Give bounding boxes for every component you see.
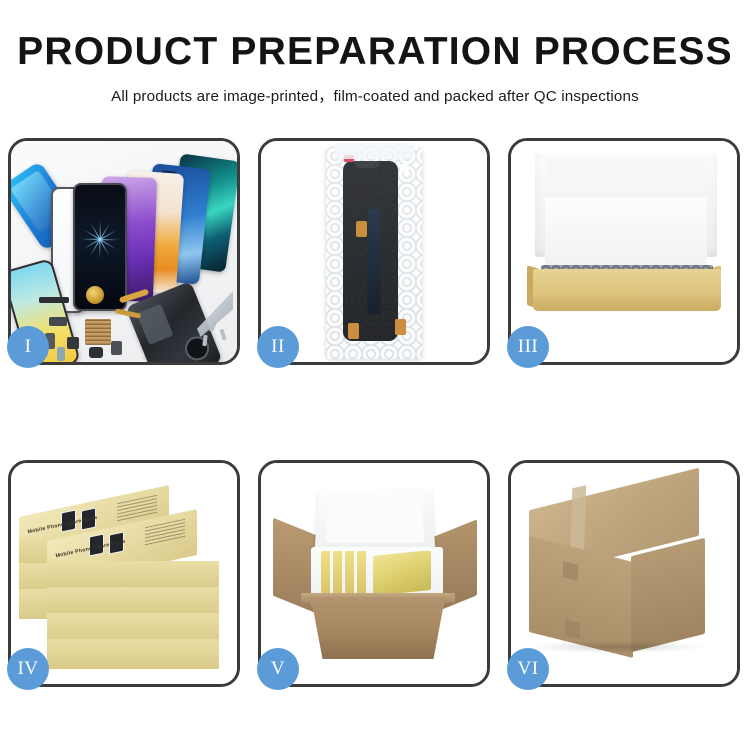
step-badge-6: VI	[507, 648, 549, 690]
sim-tray-icon	[57, 347, 65, 361]
carton-seal-icon	[563, 561, 578, 581]
wallpaper-burst-icon	[80, 229, 120, 269]
small-part-icon	[67, 337, 79, 349]
step-1-image	[11, 141, 237, 362]
process-step-panel-4[interactable]: Mobile Phone Spare Parts Mobile Phone Sp…	[8, 460, 240, 687]
step-badge-1: I	[7, 326, 49, 368]
step-badge-4: IV	[7, 648, 49, 690]
page-title: PRODUCT PREPARATION PROCESS	[0, 32, 750, 73]
step-3-image	[511, 141, 737, 362]
yellow-kraft-box-icon	[533, 269, 721, 311]
small-part-icon	[111, 341, 122, 355]
box-stack-group: Mobile Phone Spare Parts Mobile Phone Sp…	[17, 477, 233, 675]
foam-sheet-icon	[545, 197, 707, 271]
step-5-image	[261, 463, 487, 684]
process-step-panel-3[interactable]: III	[508, 138, 740, 365]
packed-boxes-group	[321, 551, 433, 595]
yellow-box-icon	[357, 551, 366, 595]
carton-side-icon	[631, 538, 705, 652]
step-4-image: Mobile Phone Spare Parts Mobile Phone Sp…	[11, 463, 237, 684]
vibrator-motor-icon	[39, 297, 69, 303]
bag-seal-icon	[334, 143, 414, 159]
yellow-box-stack-icon	[373, 551, 431, 595]
carton-seal-icon	[565, 619, 580, 639]
earpiece-mesh-icon	[85, 319, 111, 345]
page-header: PRODUCT PREPARATION PROCESS All products…	[0, 0, 750, 106]
step-6-image	[511, 463, 737, 684]
yellow-box-icon	[321, 551, 330, 595]
screw-icon	[219, 329, 226, 341]
box-side-icon	[47, 639, 219, 669]
connector-icon	[395, 319, 406, 335]
process-step-panel-2[interactable]: II	[258, 138, 490, 365]
connector-icon	[356, 221, 367, 237]
speaker-coil-icon	[86, 286, 104, 304]
step-badge-2: II	[257, 326, 299, 368]
foam-lid-icon	[314, 488, 435, 552]
step-badge-3: III	[507, 326, 549, 368]
carton-body-icon	[305, 597, 451, 659]
yellow-box-icon	[345, 551, 354, 595]
lcd-flex-ribbon-icon	[368, 209, 381, 314]
step-badge-5: V	[257, 648, 299, 690]
yellow-box-icon	[333, 551, 342, 595]
process-step-panel-6[interactable]: VI	[508, 460, 740, 687]
carton-shadow	[527, 641, 707, 653]
process-steps-grid: I II III	[8, 138, 742, 690]
step-2-image	[261, 141, 487, 362]
small-part-icon	[49, 317, 67, 326]
small-part-icon	[89, 347, 103, 358]
connector-icon	[348, 323, 359, 339]
bubble-wrap-bag-group	[326, 147, 422, 359]
process-step-panel-5[interactable]: V	[258, 460, 490, 687]
page-subtitle: All products are image-printed，film-coat…	[0, 84, 750, 106]
process-step-panel-1[interactable]: I	[8, 138, 240, 365]
